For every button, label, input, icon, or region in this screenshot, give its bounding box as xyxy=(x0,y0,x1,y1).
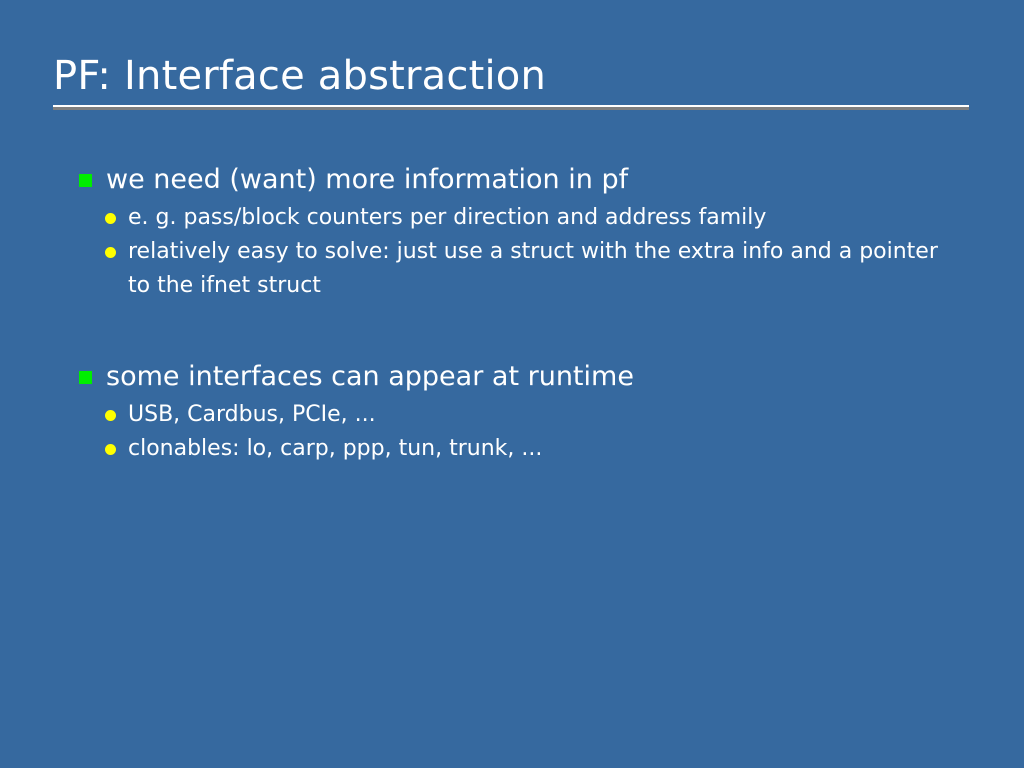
bullet-level2: USB, Cardbus, PCIe, ... xyxy=(78,398,968,432)
slide-title-block: PF: Interface abstraction xyxy=(53,52,969,100)
presentation-slide: PF: Interface abstraction we need (want)… xyxy=(0,0,1024,768)
title-underline-rule xyxy=(53,105,969,109)
bullet-level2: clonables: lo, carp, ppp, tun, trunk, ..… xyxy=(78,432,968,466)
bullet-level2: relatively easy to solve: just use a str… xyxy=(78,235,968,303)
dot-bullet-icon xyxy=(105,444,116,455)
bullet-level2-label: relatively easy to solve: just use a str… xyxy=(128,235,946,303)
dot-bullet-icon xyxy=(105,410,116,421)
bullet-group: some interfaces can appear at runtime US… xyxy=(78,359,978,466)
bullet-level2: e. g. pass/block counters per direction … xyxy=(78,201,968,235)
bullet-level1-label: some interfaces can appear at runtime xyxy=(106,361,634,392)
bullet-level1: we need (want) more information in pf xyxy=(78,162,978,198)
page-title: PF: Interface abstraction xyxy=(53,52,969,100)
bullet-level2-label: USB, Cardbus, PCIe, ... xyxy=(128,398,968,432)
square-bullet-icon xyxy=(79,371,92,384)
dot-bullet-icon xyxy=(105,247,116,258)
title-rule-gray-line xyxy=(53,107,969,110)
bullet-group: we need (want) more information in pf e.… xyxy=(78,162,978,303)
slide-body: we need (want) more information in pf e.… xyxy=(78,162,978,466)
bullet-level1: some interfaces can appear at runtime xyxy=(78,359,978,395)
square-bullet-icon xyxy=(79,174,92,187)
bullet-level1-label: we need (want) more information in pf xyxy=(106,164,628,195)
dot-bullet-icon xyxy=(105,213,116,224)
bullet-level2-label: e. g. pass/block counters per direction … xyxy=(128,201,968,235)
bullet-level2-label: clonables: lo, carp, ppp, tun, trunk, ..… xyxy=(128,432,968,466)
